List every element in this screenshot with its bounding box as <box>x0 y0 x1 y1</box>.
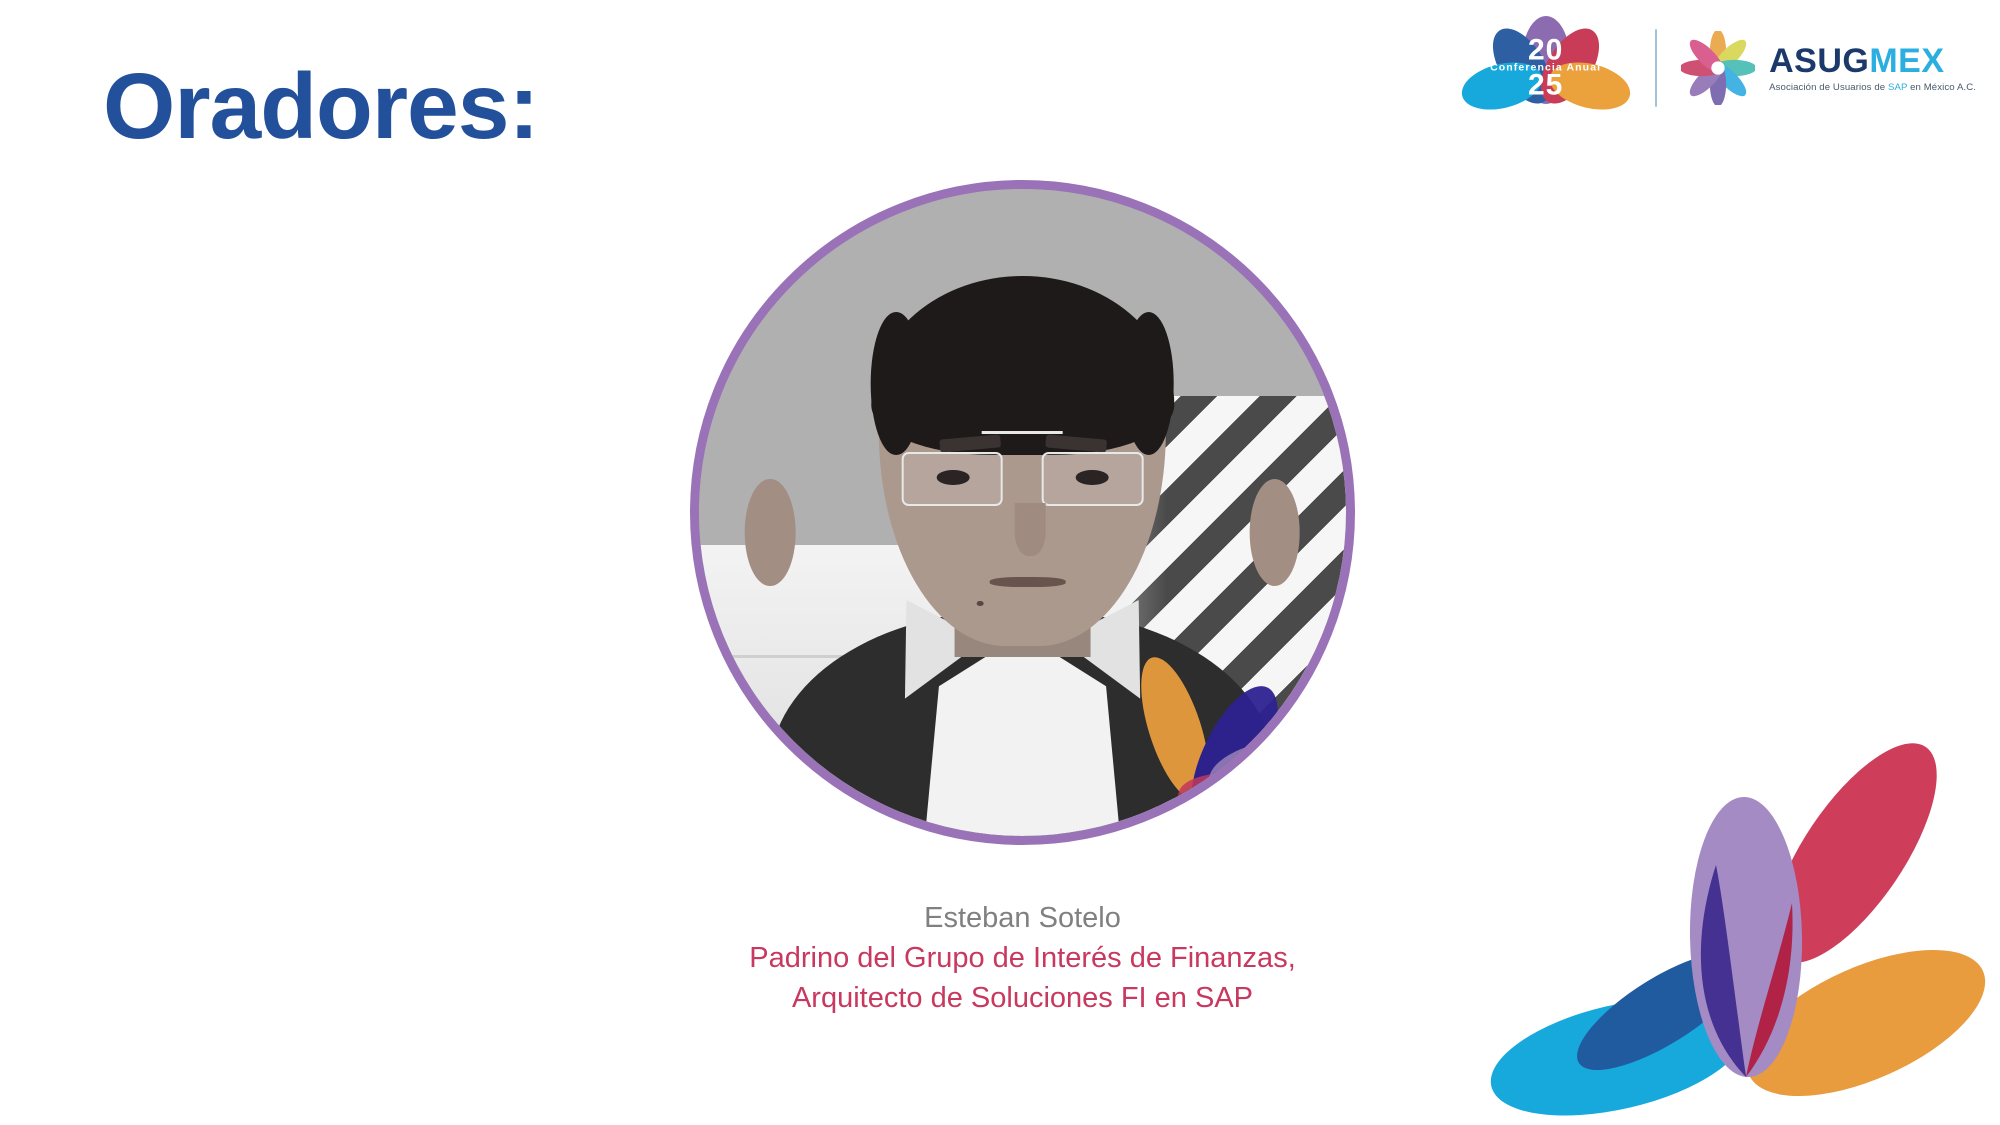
asugmex-logo: ASUGMEX Asociación de Usuarios de SAP en… <box>1681 31 1976 105</box>
asugmex-name-mex: MEX <box>1869 42 1944 80</box>
asugmex-wordmark: ASUGMEX Asociación de Usuarios de SAP en… <box>1769 44 1976 93</box>
speaker-portrait <box>690 180 1355 845</box>
logo-divider <box>1655 29 1657 107</box>
speaker-role-line-2: Arquitecto de Soluciones FI en SAP <box>510 978 1535 1018</box>
asugmex-tagline-sap: SAP <box>1888 82 1907 93</box>
speaker-name: Esteban Sotelo <box>510 898 1535 938</box>
conferencia-anual-2025-logo: 20 Conferencia Anual 25 <box>1458 14 1633 122</box>
asugmex-tagline-prefix: Asociación de Usuarios de <box>1769 82 1888 93</box>
page-title: Oradores: <box>103 58 538 156</box>
speaker-caption: Esteban Sotelo Padrino del Grupo de Inte… <box>510 898 1535 1018</box>
photo-petal-overlay <box>1100 610 1346 836</box>
header-logo-group: 20 Conferencia Anual 25 ASUGMEX Asociaci… <box>1458 14 1976 122</box>
portrait-photo <box>699 189 1346 836</box>
portrait-ring <box>690 180 1355 845</box>
asugmex-tagline: Asociación de Usuarios de SAP en México … <box>1769 82 1976 93</box>
asugmex-tagline-suffix: en México A.C. <box>1907 82 1976 93</box>
asugmex-name-asug: ASUG <box>1769 42 1869 80</box>
conference-lotus-petals-icon <box>1458 14 1633 122</box>
asugmex-pinwheel-icon <box>1681 31 1755 105</box>
speaker-role-line-1: Padrino del Grupo de Interés de Finanzas… <box>510 938 1535 978</box>
asugmex-petal-flower <box>1446 705 2000 1125</box>
asugmex-name: ASUGMEX <box>1769 44 1976 78</box>
